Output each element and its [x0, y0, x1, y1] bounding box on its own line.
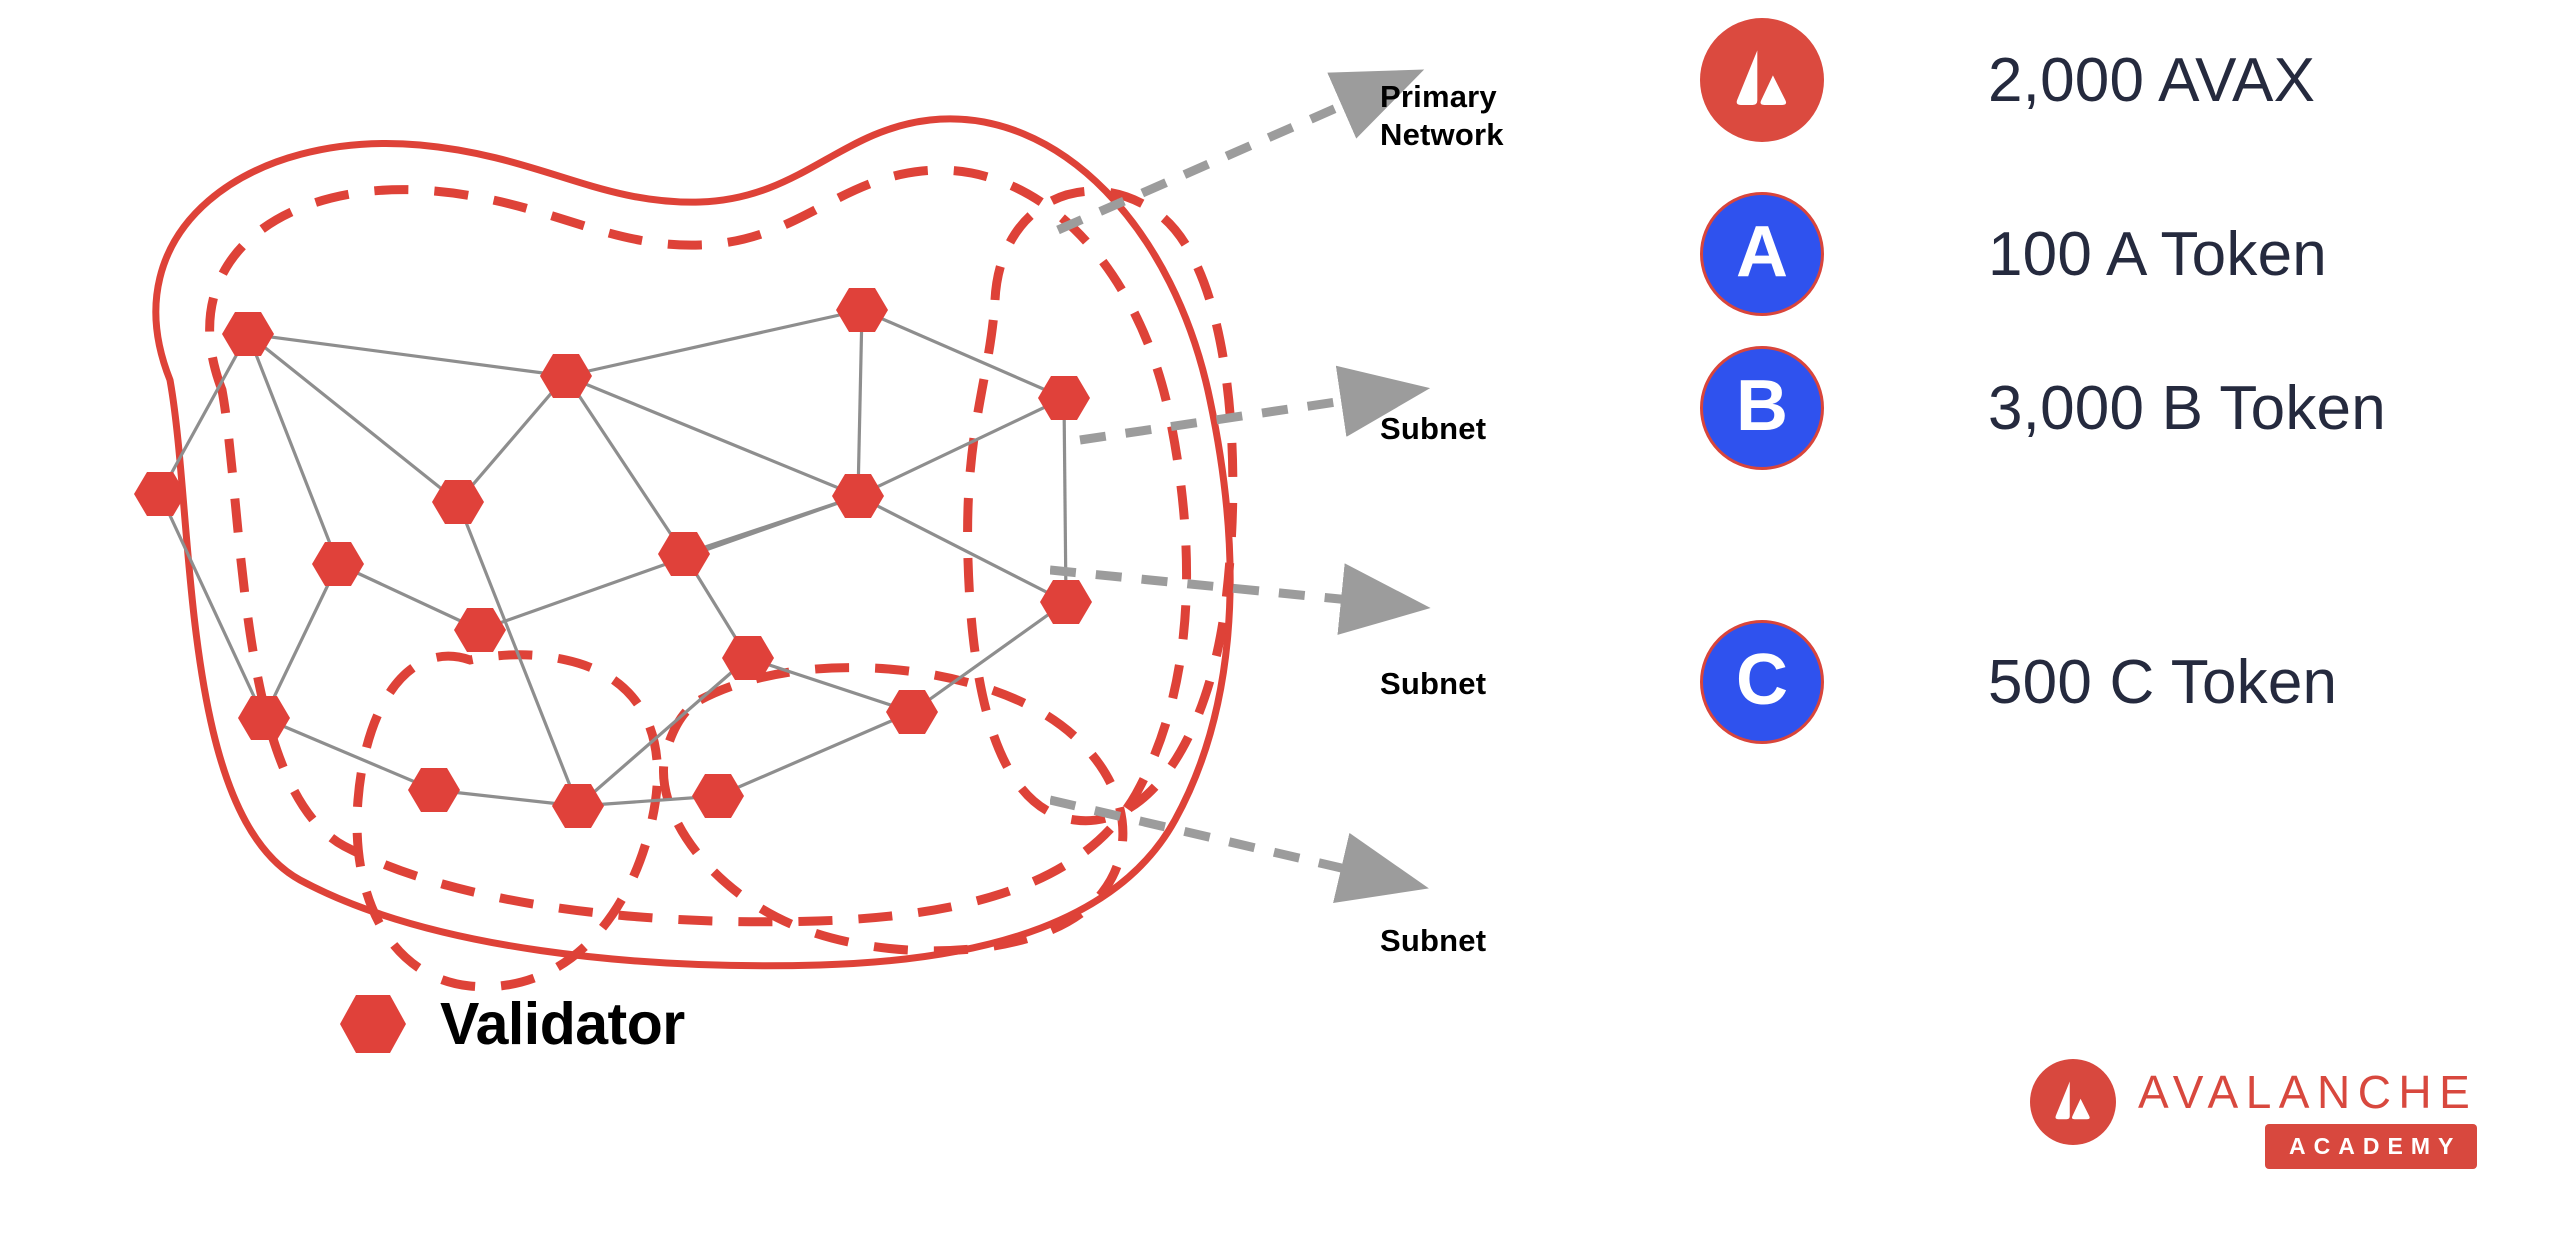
subnet-c-amount: 500 C Token — [1988, 647, 2337, 718]
validator-node — [408, 768, 460, 812]
validator-node — [454, 608, 506, 652]
subnet-c-badge-letter: C — [1736, 644, 1788, 716]
subnet-a-badge-letter: A — [1736, 216, 1788, 288]
arrow-subnet-b — [1050, 570, 1350, 600]
subnet-a-badge: A — [1700, 192, 1824, 316]
avalanche-academy-logo: AVALANCHE ACADEMY — [2030, 1053, 2477, 1169]
callout-subnet-b: Subnet — [1380, 665, 1486, 703]
callout-subnet-c: Subnet — [1380, 922, 1486, 960]
subnet-b-badge-letter: B — [1736, 370, 1788, 442]
callout-subnet-a: Subnet — [1380, 410, 1486, 448]
validator-node — [836, 288, 888, 332]
validator-node — [692, 774, 744, 818]
validator-node — [312, 542, 364, 586]
row-subnet-c: C 500 C Token — [1700, 620, 2337, 744]
arrow-primary-network — [1058, 102, 1350, 230]
validator-edges — [160, 310, 1066, 806]
row-subnet-a: A 100 A Token — [1700, 192, 2327, 316]
validator-node — [658, 532, 710, 576]
subnet-a-amount: 100 A Token — [1988, 219, 2327, 290]
diagram-canvas: Primary Network Subnet Subnet Subnet Val… — [0, 0, 2558, 1258]
validator-node — [832, 474, 884, 518]
avalanche-logo-icon — [1723, 41, 1801, 119]
avalanche-logo-icon — [2030, 1059, 2116, 1145]
row-subnet-b: B 3,000 B Token — [1700, 346, 2386, 470]
callout-primary-network: Primary Network — [1380, 78, 1504, 154]
subnet-b-amount: 3,000 B Token — [1988, 373, 2386, 444]
validator-node — [540, 354, 592, 398]
row-avax: 2,000 AVAX — [1700, 18, 2315, 142]
callout-arrows — [1050, 60, 1470, 1060]
arrow-subnet-c — [1050, 800, 1350, 870]
academy-chip: ACADEMY — [2265, 1124, 2477, 1169]
validator-node — [238, 696, 290, 740]
subnet-b-badge: B — [1700, 346, 1824, 470]
avax-badge — [1700, 18, 1824, 142]
hexagon-icon — [340, 993, 406, 1055]
subnet-c-badge: C — [1700, 620, 1824, 744]
avalanche-mark-glyph — [2046, 1075, 2100, 1129]
subnet-b-boundary — [357, 655, 657, 987]
validator-node — [886, 690, 938, 734]
avax-amount: 2,000 AVAX — [1988, 45, 2315, 116]
avalanche-wordmark: AVALANCHE — [2138, 1053, 2477, 1115]
validator-legend: Validator — [340, 990, 685, 1058]
arrow-subnet-a — [1080, 400, 1350, 440]
validator-legend-label: Validator — [440, 990, 685, 1058]
